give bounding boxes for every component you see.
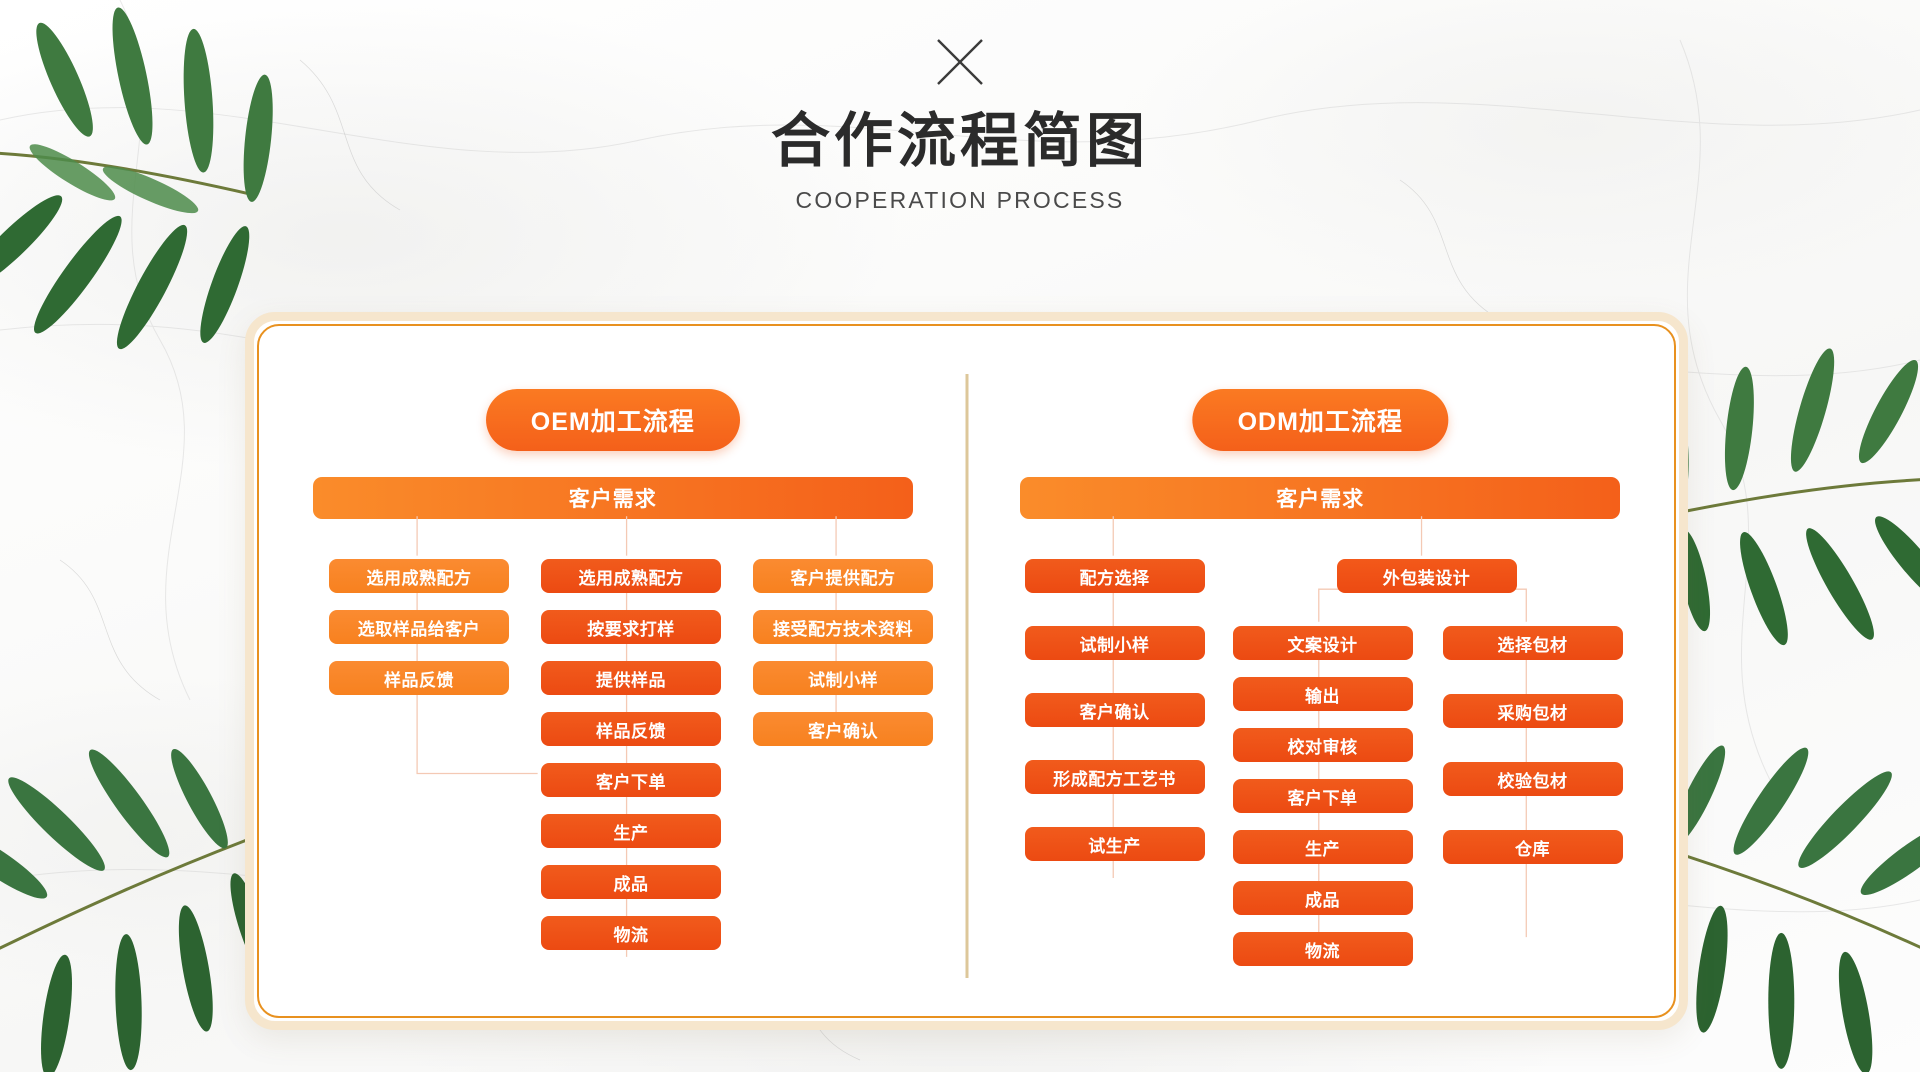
flow-step[interactable]: 采购包材 — [1443, 694, 1623, 728]
flow-step[interactable]: 生产 — [1233, 830, 1413, 864]
odm-package-design-badge[interactable]: 外包装设计 — [1337, 559, 1517, 593]
flow-step[interactable]: 成品 — [541, 865, 721, 899]
oem-column-3: 客户提供配方 接受配方技术资料 试制小样 客户确认 — [753, 559, 933, 746]
flow-step[interactable]: 物流 — [1233, 932, 1413, 966]
oem-column-2: 选用成熟配方 按要求打样 提供样品 样品反馈 客户下单 生产 成品 物流 — [541, 559, 721, 950]
page-subtitle: COOPERATION PROCESS — [0, 187, 1920, 214]
oem-flow-section: OEM加工流程 客户需求 选用成熟配方 选取样品给客户 样 — [259, 326, 967, 1016]
flow-step[interactable]: 按要求打样 — [541, 610, 721, 644]
x-mark-icon — [932, 34, 988, 90]
flow-step[interactable]: 仓库 — [1443, 830, 1623, 864]
flow-step[interactable]: 接受配方技术资料 — [753, 610, 933, 644]
odm-column-3: 选择包材 采购包材 校验包材 仓库 — [1443, 626, 1623, 864]
oem-demand-bar: 客户需求 — [313, 477, 913, 519]
oem-badge: OEM加工流程 — [486, 389, 740, 451]
flow-step[interactable]: 试制小样 — [1025, 626, 1205, 660]
odm-column-2: 文案设计 输出 校对审核 客户下单 生产 成品 物流 — [1233, 626, 1413, 966]
flow-step[interactable]: 客户下单 — [541, 763, 721, 797]
odm-column-1: 配方选择 试制小样 客户确认 形成配方工艺书 试生产 — [1025, 559, 1205, 861]
flow-step[interactable]: 试制小样 — [753, 661, 933, 695]
flow-step[interactable]: 提供样品 — [541, 661, 721, 695]
flow-step[interactable]: 选用成熟配方 — [329, 559, 509, 593]
flow-step[interactable]: 校对审核 — [1233, 728, 1413, 762]
flow-step[interactable]: 选用成熟配方 — [541, 559, 721, 593]
page-title: 合作流程简图 — [0, 111, 1920, 173]
flow-step[interactable]: 输出 — [1233, 677, 1413, 711]
odm-flow-section: ODM加工流程 客户需求 配方选择 试制小样 — [967, 326, 1675, 1016]
flow-step[interactable]: 试生产 — [1025, 827, 1205, 861]
oem-column-1: 选用成熟配方 选取样品给客户 样品反馈 — [329, 559, 509, 695]
odm-package-design-badge-wrap: 外包装设计 — [1337, 559, 1517, 593]
process-panel-inner: OEM加工流程 客户需求 选用成熟配方 选取样品给客户 样 — [257, 324, 1676, 1018]
flow-step[interactable]: 客户下单 — [1233, 779, 1413, 813]
odm-demand-bar: 客户需求 — [1020, 477, 1620, 519]
flow-step[interactable]: 形成配方工艺书 — [1025, 760, 1205, 794]
flow-step[interactable]: 客户确认 — [1025, 693, 1205, 727]
flow-step[interactable]: 生产 — [541, 814, 721, 848]
flow-step[interactable]: 样品反馈 — [329, 661, 509, 695]
process-panel: OEM加工流程 客户需求 选用成熟配方 选取样品给客户 样 — [245, 312, 1688, 1030]
odm-badge: ODM加工流程 — [1193, 389, 1448, 451]
flow-step[interactable]: 客户提供配方 — [753, 559, 933, 593]
flow-step[interactable]: 客户确认 — [753, 712, 933, 746]
flow-step[interactable]: 配方选择 — [1025, 559, 1205, 593]
flow-step[interactable]: 选取样品给客户 — [329, 610, 509, 644]
page-header: 合作流程简图 COOPERATION PROCESS — [0, 0, 1920, 214]
flow-step[interactable]: 校验包材 — [1443, 762, 1623, 796]
flow-step[interactable]: 成品 — [1233, 881, 1413, 915]
flow-step[interactable]: 物流 — [541, 916, 721, 950]
flow-step[interactable]: 文案设计 — [1233, 626, 1413, 660]
flow-step[interactable]: 选择包材 — [1443, 626, 1623, 660]
flow-step[interactable]: 样品反馈 — [541, 712, 721, 746]
